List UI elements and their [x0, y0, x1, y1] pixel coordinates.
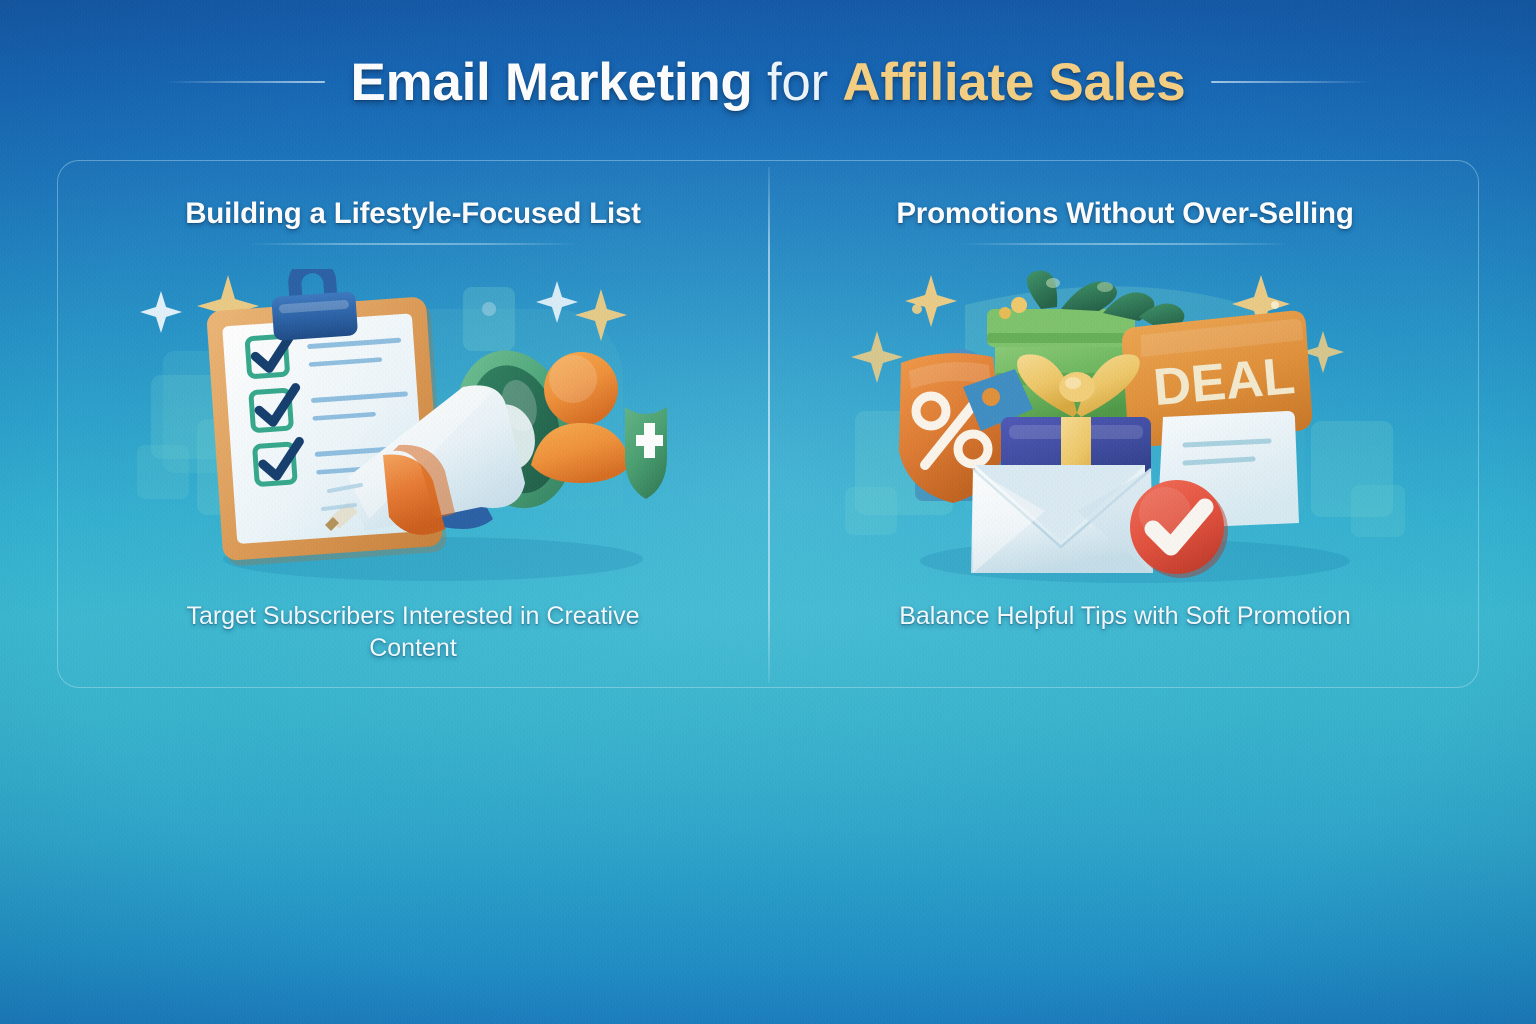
clipboard-clip-icon — [269, 269, 358, 341]
slide-title-bar: Email Marketing for Affiliate Sales — [0, 47, 1536, 117]
title-rule-right — [1211, 81, 1371, 83]
shield-plus-icon — [625, 407, 667, 499]
heading-underline-left — [248, 243, 578, 245]
column-caption-left: Target Subscribers Interested in Creativ… — [143, 601, 683, 665]
column-heading-right: Promotions Without Over-Selling — [770, 197, 1480, 231]
column-promotions: Promotions Without Over-Selling — [770, 161, 1480, 689]
slide-canvas: Email Marketing for Affiliate Sales Buil… — [0, 0, 1536, 1024]
column-heading-left: Building a Lifestyle-Focused List — [58, 197, 768, 231]
title-part-accent: Affiliate Sales — [842, 53, 1185, 112]
deal-label: DEAL — [1151, 347, 1297, 417]
title-part-for: for — [767, 53, 828, 112]
title-part-connector — [753, 53, 767, 112]
envelope-icon — [971, 465, 1153, 573]
page-title: Email Marketing for Affiliate Sales — [351, 56, 1186, 109]
heading-underline-right — [960, 243, 1290, 245]
column-caption-right: Balance Helpful Tips with Soft Promotion — [855, 601, 1395, 633]
title-part-primary: Email Marketing — [351, 53, 753, 112]
clipboard-checklist-megaphone-illustration — [133, 269, 693, 599]
title-rule-left — [165, 81, 325, 83]
column-building-list: Building a Lifestyle-Focused List — [58, 161, 768, 689]
gift-envelope-deal-illustration: DEAL — [845, 269, 1405, 599]
title-part-connector-2 — [828, 53, 842, 112]
content-panel: Building a Lifestyle-Focused List — [57, 160, 1479, 688]
